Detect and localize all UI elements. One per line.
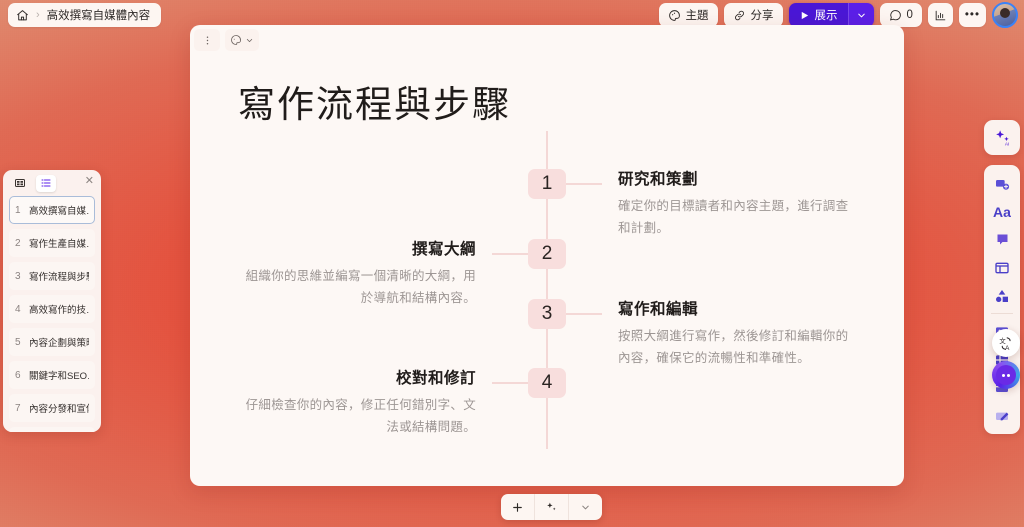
text-tool-button[interactable]: Aa [988,199,1016,224]
slide-label: 寫作流程與步驟 [29,269,89,283]
presence-eye-right [1007,374,1010,377]
theme-label: 主題 [686,7,709,23]
slide-label: 高效寫作的技… [29,302,89,316]
step-connector [492,253,528,255]
add-media-icon [994,176,1010,192]
step-number-badge: 4 [528,368,566,398]
layout-button[interactable] [988,255,1016,280]
theme-button[interactable]: 主題 [659,3,718,27]
plus-icon [511,501,524,514]
list-item[interactable]: 7 內容分發和宣傳 [9,394,95,422]
text-icon: Aa [993,204,1011,220]
close-panel-button[interactable]: ✕ [85,176,94,187]
step-body: 確定你的目標讀者和內容主題，進行調查和計劃。 [618,196,850,240]
slide-canvas[interactable]: 寫作流程與步驟 1 研究和策劃 確定你的目標讀者和內容主題，進行調查和計劃。 2… [190,25,904,486]
step-text: 寫作和編輯 按照大綱進行寫作，然後修訂和編輯你的內容，確保它的流暢性和準確性。 [618,297,850,370]
step-heading: 寫作和編輯 [618,297,850,319]
slide-label: 內容分發和宣傳 [29,401,89,415]
shapes-icon [994,288,1010,304]
breadcrumb[interactable]: › 高效撰寫自媒體內容 [8,3,161,27]
rail-divider [991,313,1013,314]
svg-text:A: A [1005,344,1010,351]
slides-list: 1 高效撰寫自媒… 2 寫作生產自媒… 3 寫作流程與步驟 4 高效寫作的技… … [3,196,101,432]
breadcrumb-title: 高效撰寫自媒體內容 [47,7,151,23]
user-avatar[interactable] [992,2,1018,28]
slide-label: 關鍵字和SEO… [29,368,89,382]
play-icon [799,10,810,21]
step-text: 研究和策劃 確定你的目標讀者和內容主題，進行調查和計劃。 [618,167,850,240]
analytics-button[interactable] [928,3,953,27]
comments-button[interactable]: 0 [880,3,922,27]
timeline: 1 研究和策劃 確定你的目標讀者和內容主題，進行調查和計劃。 2 撰寫大綱 組織… [190,129,904,459]
slide-theme-button[interactable] [225,29,259,51]
ai-generate-button[interactable] [534,494,568,520]
layout-icon [994,260,1010,276]
list-item[interactable]: 1 高效撰寫自媒… [9,196,95,224]
list-view-button[interactable] [36,175,56,192]
step-body: 組織你的思維並編寫一個清晰的大綱，用於導航和結構內容。 [244,266,476,310]
list-item[interactable]: 3 寫作流程與步驟 [9,262,95,290]
grid-view-icon [14,177,26,189]
text-icon-label: Aa [993,204,1011,220]
list-item[interactable]: 2 寫作生產自媒… [9,229,95,257]
slide-title: 寫作流程與步驟 [238,74,511,128]
list-item[interactable]: 6 關鍵字和SEO… [9,361,95,389]
step-body: 按照大綱進行寫作，然後修訂和編輯你的內容，確保它的流暢性和準確性。 [618,326,850,370]
step-heading: 校對和修訂 [244,366,476,388]
ai-sparkle-icon [545,501,558,514]
present-label: 展示 [815,7,838,23]
step-number-badge: 2 [528,239,566,269]
slide-number: 7 [15,403,22,414]
step-connector [492,382,528,384]
slide-number: 6 [15,370,22,381]
palette-icon [230,34,242,46]
step-heading: 撰寫大綱 [244,237,476,259]
list-item[interactable]: 4 高效寫作的技… [9,295,95,323]
slide-number: 5 [15,337,22,348]
palette-icon [668,9,681,22]
shapes-button[interactable] [988,283,1016,308]
share-button[interactable]: 分享 [724,3,783,27]
ai-assistant-button[interactable]: AI [984,120,1020,155]
sticky-note-button[interactable] [988,227,1016,252]
slide-label: 高效撰寫自媒… [29,203,89,217]
present-dropdown-button[interactable] [848,3,874,27]
slide-number: 3 [15,271,22,282]
step-text: 撰寫大綱 組織你的思維並編寫一個清晰的大綱，用於導航和結構內容。 [244,237,476,310]
translate-icon: 文 A [998,335,1015,352]
step-text: 校對和修訂 仔細檢查你的內容，修正任何錯別字、文法或結構問題。 [244,366,476,439]
chart-icon [934,9,947,22]
slide-number: 1 [15,205,22,216]
ai-sparkle-icon: AI [993,128,1012,147]
present-button[interactable]: 展示 [789,3,848,27]
grid-view-button[interactable] [10,175,30,192]
list-view-icon [40,177,52,189]
share-label: 分享 [751,7,774,23]
step-number-badge: 3 [528,299,566,329]
more-options-label: ••• [965,11,980,19]
add-slide-button[interactable] [501,494,534,520]
bottom-dropdown-button[interactable] [568,494,602,520]
slides-panel: ✕ 1 高效撰寫自媒… 2 寫作生產自媒… 3 寫作流程與步驟 4 高效寫作的技… [3,170,101,432]
slide-label: 寫作生產自媒… [29,236,89,250]
draw-button[interactable] [988,403,1016,428]
present-button-group: 展示 [789,3,874,27]
presence-avatar[interactable] [992,361,1020,389]
insert-toolbar: Aa [984,165,1020,434]
slide-number: 4 [15,304,22,315]
chevron-down-icon [245,36,254,45]
home-icon[interactable] [16,9,29,22]
draw-icon [994,408,1010,424]
list-item[interactable]: 8 成功案例和實… [9,427,95,432]
vertical-dots-icon [202,35,213,46]
svg-text:AI: AI [1004,141,1009,147]
list-item[interactable]: 5 內容企劃與策略 [9,328,95,356]
svg-text:文: 文 [999,335,1006,344]
presence-face [996,365,1016,385]
presence-eye-left [1002,374,1005,377]
chevron-down-icon [580,502,591,513]
comment-icon [889,9,902,22]
step-body: 仔細檢查你的內容，修正任何錯別字、文法或結構問題。 [244,395,476,439]
more-options-button[interactable]: ••• [959,3,986,27]
step-connector [566,183,602,185]
sticky-note-icon [995,232,1010,247]
step-connector [566,313,602,315]
link-icon [733,9,746,22]
step-heading: 研究和策劃 [618,167,850,189]
slides-panel-header: ✕ [3,170,101,196]
chevron-down-icon [856,10,867,21]
slide-label: 內容企劃與策略 [29,335,89,349]
slide-more-button[interactable] [194,29,220,51]
step-number-badge: 1 [528,169,566,199]
slide-number: 2 [15,238,22,249]
breadcrumb-separator: › [36,9,40,21]
comment-count: 0 [907,9,913,21]
slide-toolbar [194,29,259,51]
bottom-toolbar [501,494,602,520]
top-toolbar: 主題 分享 展示 0 [659,3,1019,27]
translate-button[interactable]: 文 A [992,329,1020,357]
add-media-icon-button[interactable] [988,171,1016,196]
